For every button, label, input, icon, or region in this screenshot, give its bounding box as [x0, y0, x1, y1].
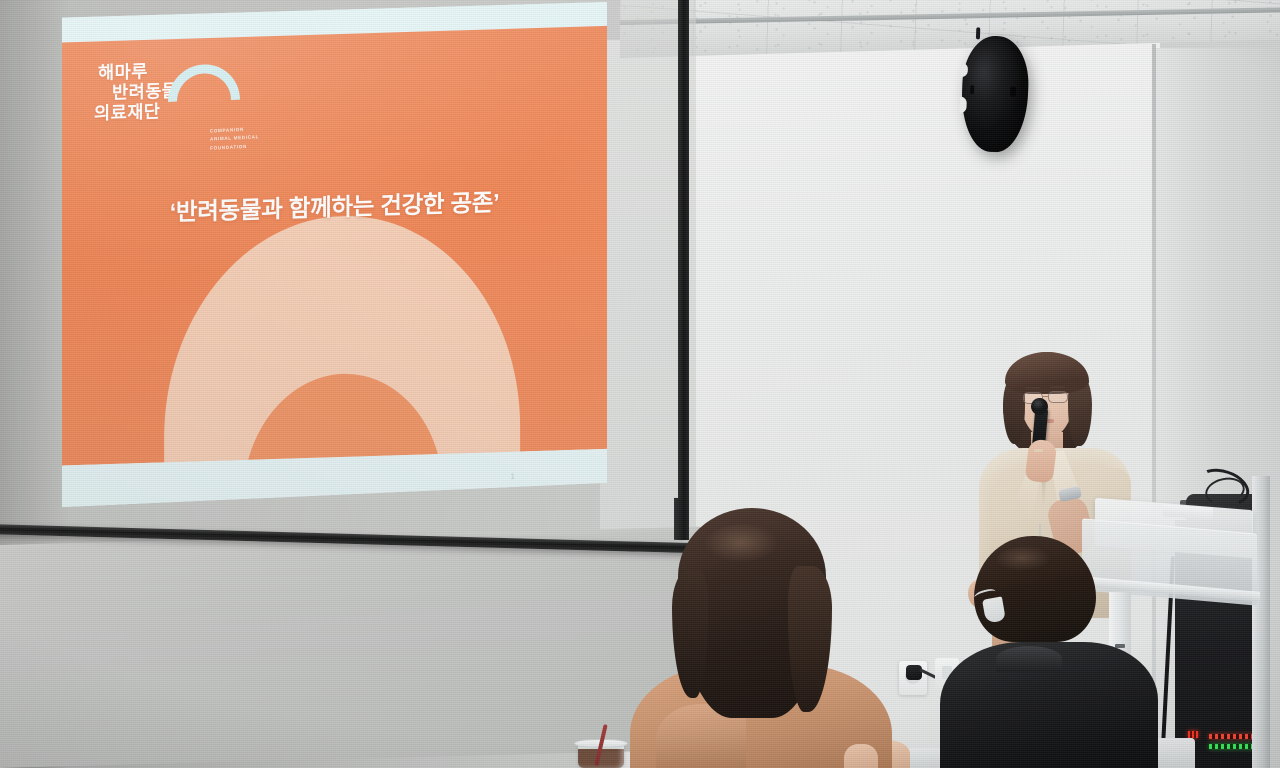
speaker-port-right	[1010, 87, 1016, 97]
attendee-short-hair	[940, 532, 1180, 768]
presenter-hand	[1025, 438, 1058, 483]
presenter-eyebrow-right	[1050, 386, 1065, 388]
presenter-hair-fringe	[1005, 352, 1089, 394]
foundation-logo: 해마루 반려동물 의료재단 COMPANION ANIMAL MEDICAL F…	[94, 57, 304, 123]
attendee-long-hair	[620, 508, 920, 768]
iced-drink-cup	[572, 728, 630, 768]
screen-side-rail	[678, 0, 689, 540]
attendee1-hand	[844, 744, 878, 768]
finger-ring	[1034, 449, 1043, 452]
logo-english-line-3: FOUNDATION	[210, 142, 259, 153]
slide-page-number: 1	[511, 472, 515, 481]
eyeglasses-lens-right	[1048, 391, 1068, 403]
attendee2-hair-highlight	[996, 546, 1062, 576]
attendee2-collar	[996, 646, 1062, 672]
slide-body: 해마루 반려동물 의료재단 COMPANION ANIMAL MEDICAL F…	[62, 26, 607, 466]
logo-line-3: 의료재단	[94, 98, 304, 123]
projected-slide: 해마루 반려동물 의료재단 COMPANION ANIMAL MEDICAL F…	[62, 2, 607, 507]
speaker-mount-bracket	[976, 27, 980, 39]
slide-inner: 해마루 반려동물 의료재단 COMPANION ANIMAL MEDICAL F…	[62, 2, 607, 507]
eyeglasses-bridge	[1043, 396, 1048, 397]
room-photo-scene: 해마루 반려동물 의료재단 COMPANION ANIMAL MEDICAL F…	[0, 0, 1280, 768]
attendee1-hair-highlight	[702, 524, 788, 570]
projection-screen: 해마루 반려동물 의료재단 COMPANION ANIMAL MEDICAL F…	[0, 0, 720, 600]
speaker-port-left	[970, 85, 974, 94]
speaker-notch-top	[961, 63, 968, 77]
speaker-notch-bottom	[959, 97, 967, 113]
presenter-eyebrow-left	[1025, 387, 1040, 389]
logo-english-text: COMPANION ANIMAL MEDICAL FOUNDATION	[210, 125, 260, 153]
